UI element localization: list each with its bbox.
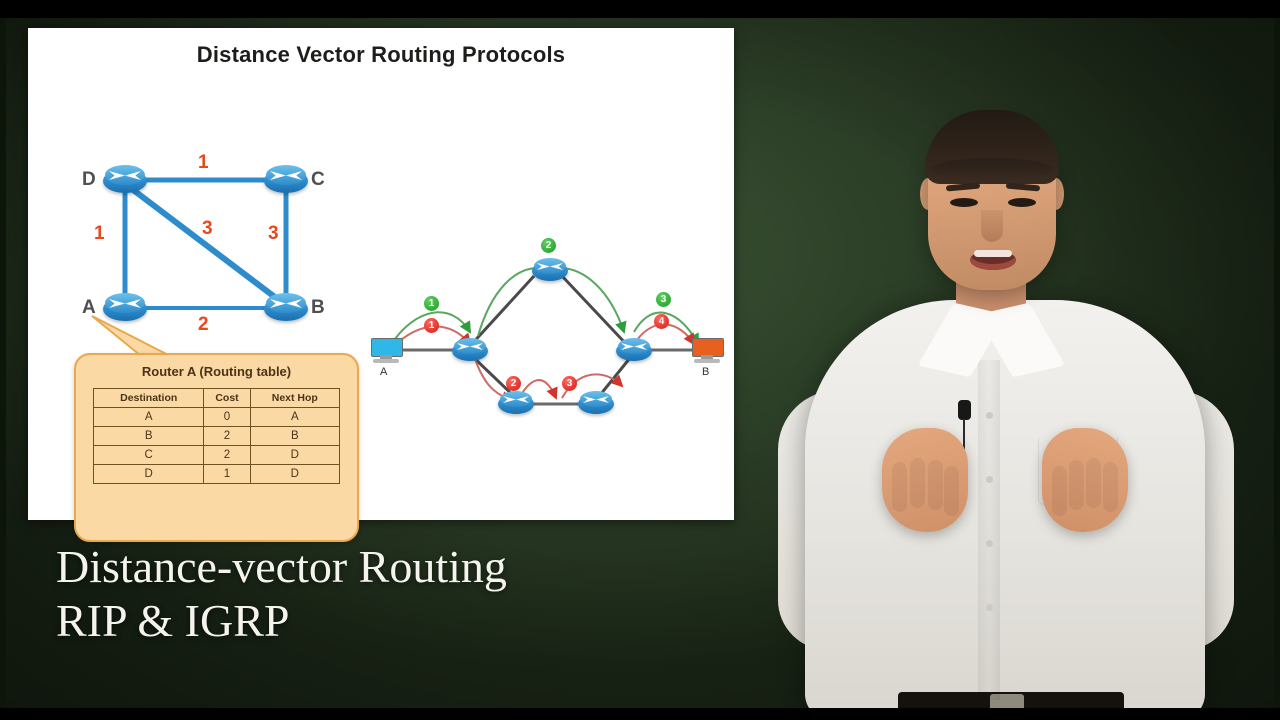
cell-next-hop: B [250, 427, 339, 446]
green-hop-badge-2: 2 [541, 238, 556, 253]
red-hop-badge-4: 4 [654, 314, 669, 329]
router-hop-top[interactable] [532, 258, 568, 283]
red-hop-badge-2: 2 [506, 376, 521, 391]
router-hop-right[interactable] [616, 338, 652, 363]
presenter-nose [981, 210, 1003, 242]
shirt-button [986, 540, 993, 547]
node-label-d: D [82, 169, 96, 191]
column-header-cost: Cost [204, 389, 250, 408]
presenter-hand-right [1042, 428, 1128, 532]
cell-cost: 0 [204, 408, 250, 427]
presenter-hand-left [882, 428, 968, 532]
router-node-c[interactable] [264, 165, 308, 195]
presenter [770, 60, 1240, 708]
cell-destination: A [94, 408, 204, 427]
lapel-microphone [958, 400, 971, 420]
caption-line-1: Distance-vector Routing [56, 540, 716, 594]
video-frame: Distance Vector Routing Protocols [0, 0, 1280, 720]
green-hop-badge-3: 3 [656, 292, 671, 307]
red-hop-badge-3: 3 [562, 376, 577, 391]
link-cost-d-a: 1 [94, 223, 105, 245]
cell-cost: 2 [204, 427, 250, 446]
cell-destination: D [94, 465, 204, 484]
cell-next-hop: D [250, 446, 339, 465]
shirt-placket [978, 360, 1000, 700]
cell-cost: 2 [204, 446, 250, 465]
shirt-button [986, 604, 993, 611]
left-topology-diagram: D C A B 1 1 3 3 2 [68, 128, 368, 348]
slide-title: Distance Vector Routing Protocols [28, 42, 734, 68]
link-cost-d-b: 3 [202, 218, 213, 240]
presentation-slide: Distance Vector Routing Protocols [28, 28, 734, 520]
router-hop-bottom-right[interactable] [578, 391, 614, 416]
frame-edge-left [0, 18, 6, 708]
router-node-b[interactable] [264, 293, 308, 323]
link-cost-d-c: 1 [198, 152, 209, 174]
link-cost-c-b: 3 [268, 223, 279, 245]
router-hop-bottom-left[interactable] [498, 391, 534, 416]
cell-cost: 1 [204, 465, 250, 484]
hop-path-links [366, 228, 726, 418]
frame-edge-right [1274, 18, 1280, 708]
presenter-teeth [974, 250, 1012, 257]
caption-line-2: RIP & IGRP [56, 594, 716, 648]
endpoint-label-b: B [702, 366, 709, 378]
routing-table: Destination Cost Next Hop A 0 A B 2 B C … [93, 388, 340, 484]
right-topology-diagram: A B 1 2 3 1 2 3 4 [366, 228, 726, 418]
cell-next-hop: A [250, 408, 339, 427]
shirt-button [986, 412, 993, 419]
letterbox-bottom [0, 708, 1280, 720]
green-hop-badge-1: 1 [424, 296, 439, 311]
table-header-row: Destination Cost Next Hop [94, 389, 340, 408]
presenter-eye-left [950, 198, 978, 207]
router-node-d[interactable] [103, 165, 147, 195]
routing-table-callout: Router A (Routing table) Destination Cos… [74, 353, 359, 542]
router-node-a[interactable] [103, 293, 147, 323]
presenter-hair [925, 110, 1059, 184]
cell-destination: B [94, 427, 204, 446]
node-label-b: B [311, 297, 325, 319]
endpoint-host-a[interactable] [371, 338, 401, 364]
column-header-destination: Destination [94, 389, 204, 408]
table-row: D 1 D [94, 465, 340, 484]
router-hop-left[interactable] [452, 338, 488, 363]
red-hop-badge-1: 1 [424, 318, 439, 333]
endpoint-host-b[interactable] [692, 338, 722, 364]
endpoint-label-a: A [380, 366, 387, 378]
node-label-a: A [82, 297, 96, 319]
table-row: C 2 D [94, 446, 340, 465]
shirt-button [986, 476, 993, 483]
table-row: B 2 B [94, 427, 340, 446]
presenter-eye-right [1008, 198, 1036, 207]
table-row: A 0 A [94, 408, 340, 427]
cell-destination: C [94, 446, 204, 465]
video-caption: Distance-vector Routing RIP & IGRP [56, 540, 716, 649]
letterbox-top [0, 0, 1280, 18]
link-cost-a-b: 2 [198, 314, 209, 336]
node-label-c: C [311, 169, 325, 191]
column-header-next-hop: Next Hop [250, 389, 339, 408]
callout-title: Router A (Routing table) [76, 364, 357, 379]
cell-next-hop: D [250, 465, 339, 484]
